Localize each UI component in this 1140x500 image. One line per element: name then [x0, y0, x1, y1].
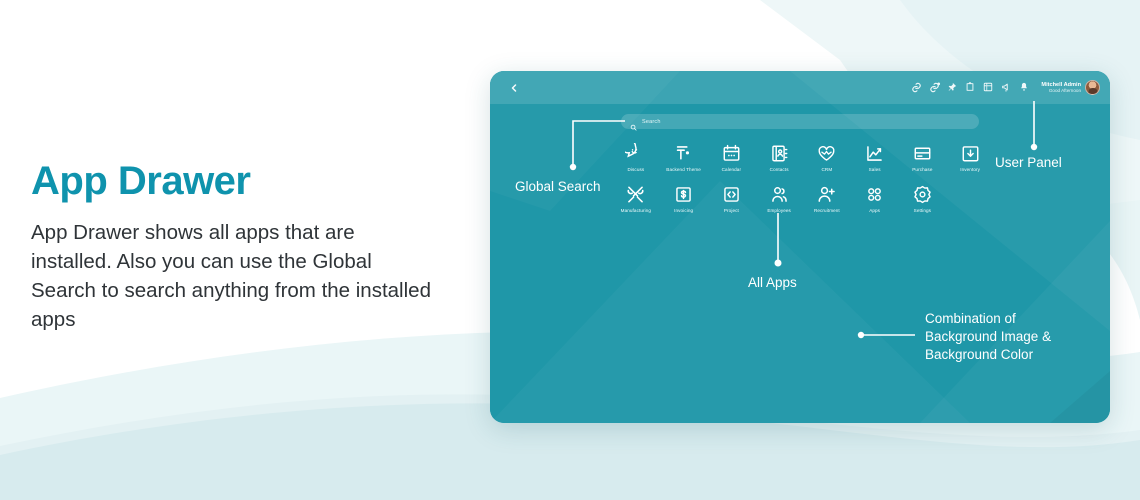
sales-icon: [864, 143, 885, 164]
app-label: Settings: [914, 208, 931, 213]
app-label: Sales: [869, 167, 881, 172]
page-description: App Drawer shows all apps that are insta…: [31, 218, 431, 334]
manufacturing-icon: [625, 184, 646, 205]
backend-theme-icon: [673, 143, 694, 164]
app-item-calendar[interactable]: Calendar: [708, 143, 756, 172]
app-label: Calendar: [722, 167, 741, 172]
app-label: Discuss: [627, 167, 644, 172]
megaphone-icon[interactable]: [1001, 82, 1012, 93]
app-label: Manufacturing: [621, 208, 651, 213]
search-icon: [630, 118, 637, 125]
project-icon: [721, 184, 742, 205]
search-input[interactable]: Search: [621, 114, 979, 129]
chevron-left-icon[interactable]: [507, 81, 521, 95]
app-label: Employees: [767, 208, 791, 213]
intro-copy-block: App Drawer App Drawer shows all apps tha…: [31, 160, 431, 334]
pin-icon[interactable]: [947, 82, 958, 93]
annotation-user-panel: User Panel: [995, 154, 1115, 172]
purchase-icon: [912, 143, 933, 164]
user-greeting: Good Afternoon: [1041, 88, 1081, 93]
app-item-crm[interactable]: CRM: [803, 143, 851, 172]
app-item-project[interactable]: Project: [708, 184, 756, 213]
drawer-header-bar: Mitchell Admin Good Afternoon: [490, 71, 1110, 104]
app-item-contacts[interactable]: Contacts: [755, 143, 803, 172]
app-item-discuss[interactable]: Discuss: [612, 143, 660, 172]
user-text-block: Mitchell Admin Good Afternoon: [1041, 82, 1081, 93]
user-panel[interactable]: Mitchell Admin Good Afternoon: [1041, 80, 1100, 95]
page-title: App Drawer: [31, 160, 431, 202]
crm-icon: [816, 143, 837, 164]
header-icon-tray: Mitchell Admin Good Afternoon: [911, 80, 1100, 95]
discuss-icon: [625, 143, 646, 164]
app-item-recruitment[interactable]: Recruitment: [803, 184, 851, 213]
bell-icon[interactable]: [1019, 82, 1030, 93]
app-item-sales[interactable]: Sales: [851, 143, 899, 172]
invoicing-icon: [673, 184, 694, 205]
app-label: Invoicing: [674, 208, 693, 213]
app-label: Contacts: [770, 167, 789, 172]
recruitment-icon: [816, 184, 837, 205]
app-item-backend-theme[interactable]: Backend Theme: [660, 143, 708, 172]
app-label: CRM: [821, 167, 832, 172]
avatar[interactable]: [1085, 80, 1100, 95]
annotation-background-combination: Combination of Background Image & Backgr…: [925, 310, 1090, 364]
settings-icon: [912, 184, 933, 205]
contacts-icon: [769, 143, 790, 164]
bug-icon[interactable]: [965, 82, 976, 93]
apps-icon: [864, 184, 885, 205]
app-drawer-panel: Mitchell Admin Good Afternoon Search Dis…: [490, 71, 1110, 423]
inventory-icon: [960, 143, 981, 164]
annotation-all-apps: All Apps: [748, 274, 838, 292]
app-label: Backend Theme: [666, 167, 701, 172]
link-badge-icon[interactable]: [929, 82, 940, 93]
search-placeholder: Search: [642, 119, 661, 125]
app-label: Recruitment: [814, 208, 840, 213]
annotation-global-search: Global Search: [515, 178, 625, 196]
app-label: Inventory: [960, 167, 980, 172]
app-item-purchase[interactable]: Purchase: [899, 143, 947, 172]
app-item-employees[interactable]: Employees: [755, 184, 803, 213]
app-item-invoicing[interactable]: Invoicing: [660, 184, 708, 213]
app-item-apps[interactable]: Apps: [851, 184, 899, 213]
app-label: Project: [724, 208, 739, 213]
calendar-icon: [721, 143, 742, 164]
grid-icon[interactable]: [983, 82, 994, 93]
app-grid: Discuss Backend Theme Calendar Contacts: [612, 143, 994, 213]
app-item-settings[interactable]: Settings: [899, 184, 947, 213]
app-label: Purchase: [912, 167, 932, 172]
link-icon[interactable]: [911, 82, 922, 93]
app-item-inventory[interactable]: Inventory: [946, 143, 994, 172]
app-label: Apps: [869, 208, 880, 213]
employees-icon: [769, 184, 790, 205]
